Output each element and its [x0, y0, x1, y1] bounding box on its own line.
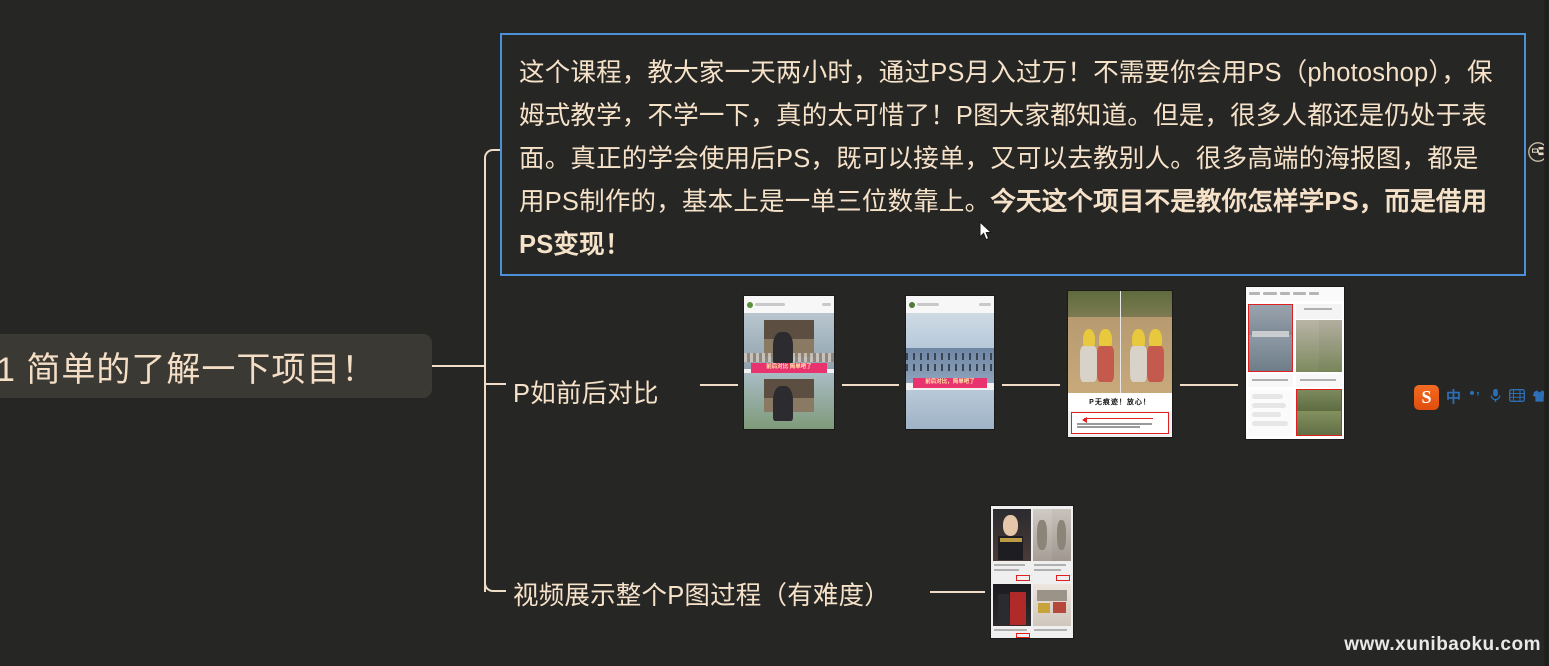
connector-dash — [1180, 384, 1238, 386]
thumb-app-header — [906, 296, 994, 313]
red-arrow-line — [1084, 418, 1153, 420]
header-action-bar — [822, 303, 831, 306]
nav-tab — [1280, 292, 1290, 295]
kid-body-left-2 — [1097, 346, 1114, 381]
beach-crowd-row — [906, 364, 994, 371]
nav-tab — [1293, 292, 1306, 295]
branch-video-process-label[interactable]: 视频展示整个P图过程（有难度） — [513, 575, 890, 612]
comment-line — [1077, 426, 1140, 428]
thumb-caption-banner: P无痕迹！放心！ — [1068, 393, 1172, 411]
feed-suggestion-list — [1248, 390, 1293, 436]
header-title-bar — [917, 303, 939, 306]
grid-cell — [1033, 584, 1072, 626]
grid-cell — [993, 509, 1032, 562]
root-node[interactable]: 1 简单的了解一下项目！ — [0, 334, 432, 398]
voice-input-icon[interactable] — [1489, 388, 1502, 406]
beach-crowd-row — [906, 353, 994, 360]
feed-nav-bar — [1246, 287, 1344, 301]
beach-sea-after — [906, 390, 994, 429]
grid-cell — [993, 584, 1032, 626]
site-watermark: www.xunibaoku.com — [1344, 634, 1541, 656]
person-lower — [773, 386, 793, 421]
note-text: 这个课程，教大家一天两小时，通过PS月入过万！不需要你会用PS（photosho… — [519, 52, 1502, 267]
thumbnail-field-no-trace[interactable]: P无痕迹！放心！ — [1068, 291, 1172, 437]
person-upper — [773, 332, 793, 364]
header-title-bar — [755, 303, 785, 306]
right-edge-strip — [1544, 0, 1549, 666]
connector-stub-before-after — [484, 383, 506, 385]
header-action-bar — [979, 303, 991, 306]
sogou-logo-icon[interactable]: S — [1414, 385, 1439, 410]
kid-body-right — [1130, 346, 1147, 381]
connector-dash — [930, 591, 985, 593]
connector-root-stub — [432, 365, 485, 367]
thumb-image-area: 前后对比，简单吧了 — [906, 313, 994, 429]
thumbnail-grid-feed[interactable] — [991, 506, 1073, 638]
branch-before-after-label[interactable]: P如前后对比 — [513, 373, 659, 410]
thumbnail-beach-before-after[interactable]: 前后对比，简单吧了 — [906, 296, 994, 429]
red-highlight-box — [1071, 412, 1169, 434]
comparison-divider — [1120, 291, 1121, 393]
project-description-note[interactable]: 这个课程，教大家一天两小时，通过PS月入过万！不需要你会用PS（photosho… — [500, 33, 1526, 276]
feed-card — [1296, 304, 1342, 319]
thumb-app-header — [744, 296, 834, 313]
grid-cell — [1033, 509, 1072, 562]
feed-card — [1296, 320, 1342, 372]
connector-trunk — [484, 158, 486, 592]
nav-tab — [1309, 292, 1319, 295]
red-highlight-box — [1016, 633, 1030, 638]
red-highlight-box — [1056, 575, 1070, 582]
comment-line — [1077, 423, 1152, 425]
nav-tab — [1249, 292, 1260, 295]
connector-dash — [1002, 384, 1060, 386]
mouse-cursor — [979, 221, 993, 241]
soft-keyboard-icon[interactable] — [1509, 389, 1525, 405]
thumbnail-temple-before-after[interactable]: 前后对比 简单吧了 — [744, 296, 834, 429]
thumbnail-search-feed[interactable] — [1246, 287, 1344, 439]
feed-card — [1248, 374, 1293, 388]
avatar-icon — [747, 302, 753, 308]
sogou-input-toolbar[interactable]: S 中 — [1412, 381, 1549, 413]
nav-tab — [1263, 292, 1277, 295]
kid-body-left — [1080, 346, 1097, 381]
red-highlight-box — [1016, 575, 1030, 582]
punctuation-mode-button[interactable] — [1468, 389, 1482, 406]
feed-card — [1296, 374, 1342, 388]
kid-body-right-2 — [1147, 346, 1164, 381]
connector-corner-video — [484, 574, 506, 592]
mindmap-canvas[interactable]: 1 简单的了解一下项目！ 这个课程，教大家一天两小时，通过PS月入过万！不需要你… — [0, 0, 1549, 666]
avatar-icon — [909, 302, 915, 308]
feed-card-highlighted — [1248, 304, 1293, 372]
language-mode-button[interactable]: 中 — [1446, 390, 1461, 405]
connector-dash — [842, 384, 899, 386]
connector-dash — [700, 384, 738, 386]
root-node-label: 1 简单的了解一下项目！ — [0, 342, 376, 391]
feed-card-highlighted-2 — [1296, 389, 1342, 436]
beach-sky — [906, 313, 994, 348]
thumb-image-area: 前后对比 简单吧了 — [744, 313, 834, 429]
thumb-red-banner: 前后对比，简单吧了 — [913, 378, 987, 388]
